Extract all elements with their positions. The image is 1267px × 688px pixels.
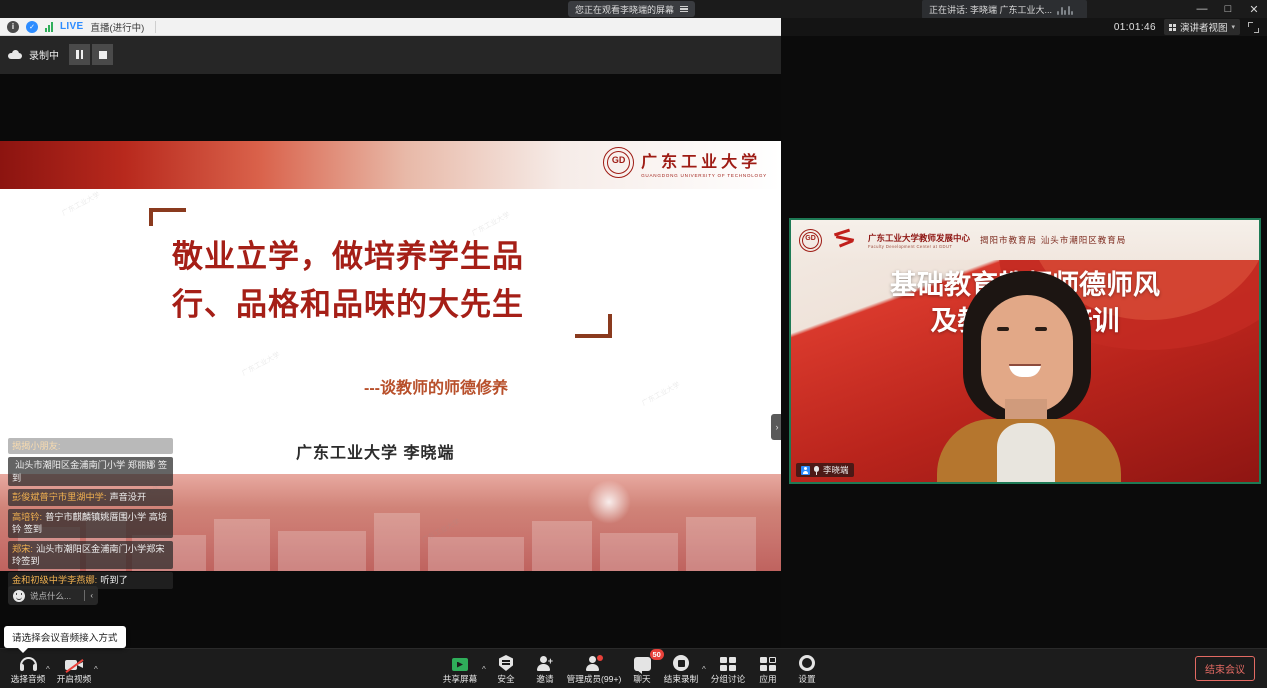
university-logo: GD 广东工业大学 GUANGDONG UNIVERSITY OF TECHNO… xyxy=(603,147,767,178)
active-speaker-text: 正在讲话: 李晓端 广东工业大... xyxy=(929,3,1052,16)
recording-controls: 录制中 xyxy=(8,44,113,65)
chat-sender: 揭揭小朋友: xyxy=(12,441,61,451)
chat-text: 汕头市潮阳区金浦南门小学郑宋玲签到 xyxy=(12,544,165,566)
university-name: 广东工业大学 GUANGDONG UNIVERSITY OF TECHNOLOG… xyxy=(641,148,767,178)
shared-screen-stage: GD 广东工业大学 GUANGDONG UNIVERSITY OF TECHNO… xyxy=(0,74,781,648)
toolbar-label-video: 开启视频 xyxy=(57,673,91,685)
chat-message: 高培钤:普宁市麒麟镇姚厝围小学 高培钤 签到 xyxy=(8,509,173,538)
microphone-icon xyxy=(814,466,819,475)
view-mode-label: 演讲者视图 xyxy=(1180,20,1228,34)
window-title-bar: 您正在观看李晓端的屏幕 正在讲话: 李晓端 广东工业大... — □ ✕ xyxy=(0,0,1267,18)
center-name-block: 广东工业大学教师发展中心 Faculty Development Center … xyxy=(868,232,970,249)
university-name-en: GUANGDONG UNIVERSITY OF TECHNOLOGY xyxy=(641,173,767,178)
chat-overlay: 揭揭小朋友: 汕头市潮阳区金浦南门小学 郑丽娜 签到 彭俊斌普宁市里湖中学:声音… xyxy=(8,438,173,592)
participant-name: 李晓端 xyxy=(823,464,849,476)
sun-glow xyxy=(587,480,631,524)
university-name-cn: 广东工业大学 xyxy=(641,148,767,172)
chat-sender: 彭俊斌普宁市里湖中学: xyxy=(12,492,106,502)
partner-orgs: 揭阳市教育局 汕头市潮阳区教育局 xyxy=(980,234,1126,246)
chat-input-bar[interactable]: 说点什么... ‹ xyxy=(8,586,98,605)
recording-buttons xyxy=(69,44,113,65)
meeting-timer: 01:01:46 xyxy=(1114,22,1156,33)
center-name-en: Faculty Development Center at GDUT xyxy=(868,244,970,249)
end-meeting-button[interactable]: 结束会议 xyxy=(1195,656,1255,681)
recording-status-label: 录制中 xyxy=(29,47,59,62)
university-seal-icon: GD xyxy=(603,147,634,178)
toolbar-label-chat: 聊天 xyxy=(633,673,650,685)
participants-icon xyxy=(586,653,602,671)
screen-viewing-notice-text: 您正在观看李晓端的屏幕 xyxy=(575,3,674,16)
chat-text: 声音没开 xyxy=(109,492,146,502)
pause-recording-button[interactable] xyxy=(69,44,90,65)
chat-message: 汕头市潮阳区金浦南门小学 郑丽娜 签到 xyxy=(8,457,173,486)
divider xyxy=(155,21,156,33)
chat-message: 揭揭小朋友: xyxy=(8,438,173,454)
zoom-meeting-window: 您正在观看李晓端的屏幕 正在讲话: 李晓端 广东工业大... — □ ✕ i ✓… xyxy=(0,0,1267,688)
audio-tooltip: 请选择会议音频接入方式 xyxy=(4,626,126,648)
chat-icon: 50 xyxy=(634,653,651,671)
meeting-info-bar: i ✓ LIVE 直播(进行中) xyxy=(0,18,781,36)
live-badge: LIVE xyxy=(60,21,83,32)
live-status-text: 直播(进行中) xyxy=(90,20,144,34)
watermark: 广东工业大学 xyxy=(240,350,282,379)
watermark: 广东工业大学 xyxy=(60,190,102,219)
center-seal-icon: GD xyxy=(799,229,822,252)
maximize-button[interactable]: □ xyxy=(1215,0,1241,18)
camera-off-icon xyxy=(65,653,83,671)
stop-recording-button[interactable] xyxy=(92,44,113,65)
toolbar-item-invite[interactable]: + 邀请 xyxy=(517,653,573,685)
screen-share-icon xyxy=(452,653,468,671)
close-button[interactable]: ✕ xyxy=(1241,0,1267,18)
minimize-button[interactable]: — xyxy=(1189,0,1215,18)
participant-video-tile[interactable]: GD 广东工业大学教师发展中心 Faculty Development Cent… xyxy=(789,218,1261,484)
toolbar-label-audio: 选择音频 xyxy=(11,673,45,685)
slide-title-line2: 行、品格和品味的大先生 xyxy=(172,281,612,329)
audio-wave-icon xyxy=(1057,5,1073,15)
banner-header: GD 广东工业大学教师发展中心 Faculty Development Cent… xyxy=(791,220,1259,260)
emoji-icon[interactable] xyxy=(13,590,25,602)
slide-title-line1: 敬业立学，做培养学生品 xyxy=(172,233,612,281)
headset-icon xyxy=(20,653,37,671)
video-background-banner: GD 广东工业大学教师发展中心 Faculty Development Cent… xyxy=(791,220,1259,484)
cloud-recording-icon xyxy=(8,50,22,59)
chat-message: 彭俊斌普宁市里湖中学:声音没开 xyxy=(8,489,173,505)
chat-message: 郑宋:汕头市潮阳区金浦南门小学郑宋玲签到 xyxy=(8,541,173,570)
toolbar-label-stop-recording: 结束录制 xyxy=(664,673,698,685)
chat-text: 听到了 xyxy=(100,575,128,585)
recording-bar: 录制中 xyxy=(0,36,781,74)
video-chevron-up-icon[interactable]: ^ xyxy=(94,665,98,674)
network-signal-icon[interactable] xyxy=(45,21,53,32)
decorative-bracket-top-left xyxy=(149,208,186,226)
window-controls: — □ ✕ xyxy=(1189,0,1267,18)
toolbar-label-settings: 设置 xyxy=(798,673,815,685)
pause-icon xyxy=(76,50,83,59)
chevron-down-icon: ▾ xyxy=(1231,23,1235,31)
invite-icon: + xyxy=(537,653,553,671)
chat-sender: 郑宋: xyxy=(12,544,33,554)
screen-viewing-notice: 您正在观看李晓端的屏幕 xyxy=(568,1,695,17)
encryption-shield-icon[interactable]: ✓ xyxy=(26,21,38,33)
participant-silhouette xyxy=(931,271,1126,484)
video-pane: GD 广东工业大学教师发展中心 Faculty Development Cent… xyxy=(781,36,1267,648)
slide-header-banner: GD 广东工业大学 GUANGDONG UNIVERSITY OF TECHNO… xyxy=(0,141,781,189)
fullscreen-icon[interactable] xyxy=(1248,22,1259,33)
divider xyxy=(84,590,85,601)
participant-name-label: 李晓端 xyxy=(796,463,854,477)
slide-subtitle: ---谈教师的师德修养 xyxy=(364,374,508,398)
seal-text: GD xyxy=(604,155,633,165)
chat-collapse-icon[interactable]: ‹ xyxy=(90,591,93,600)
slide-title: 敬业立学，做培养学生品 行、品格和品味的大先生 xyxy=(172,233,612,329)
toolbar-item-settings[interactable]: 设置 xyxy=(779,653,835,685)
chat-text: 汕头市潮阳区金浦南门小学 郑丽娜 签到 xyxy=(12,460,167,482)
toolbar-label-security: 安全 xyxy=(497,673,514,685)
meeting-view-bar: 01:01:46 演讲者视图 ▾ xyxy=(781,18,1267,36)
toolbar-label-apps: 应用 xyxy=(759,673,776,685)
toolbar-label-share-screen: 共享屏幕 xyxy=(443,673,477,685)
gear-icon xyxy=(799,653,815,671)
chat-input[interactable]: 说点什么... xyxy=(30,590,79,602)
meeting-toolbar: 选择音频 ^ 开启视频 ^ 共享屏幕 ^ 安全 + 邀请 xyxy=(0,648,1267,688)
toolbar-label-invite: 邀请 xyxy=(536,673,553,685)
stop-icon xyxy=(99,51,107,59)
menu-lines-icon[interactable] xyxy=(680,6,688,13)
breakout-rooms-icon xyxy=(720,653,736,671)
center-logo-mark xyxy=(832,228,858,252)
chat-sender: 金和初级中学李燕娜: xyxy=(12,575,97,585)
slide-presenter: 广东工业大学 李晓端 xyxy=(296,439,454,463)
apps-icon xyxy=(760,653,776,671)
chat-sender: 高培钤: xyxy=(12,512,42,522)
view-mode-selector[interactable]: 演讲者视图 ▾ xyxy=(1164,19,1240,35)
active-speaker-banner: 正在讲话: 李晓端 广东工业大... xyxy=(922,0,1087,19)
host-person-icon xyxy=(801,466,810,475)
layout-grid-icon xyxy=(1169,24,1176,31)
shield-icon xyxy=(499,653,513,671)
record-stop-icon xyxy=(673,653,689,671)
toolbar-item-video[interactable]: 开启视频 ^ xyxy=(46,653,102,685)
watermark: 广东工业大学 xyxy=(640,380,682,409)
info-icon[interactable]: i xyxy=(7,21,19,33)
center-name-cn: 广东工业大学教师发展中心 xyxy=(868,232,970,244)
seal-text: GD xyxy=(800,235,821,242)
